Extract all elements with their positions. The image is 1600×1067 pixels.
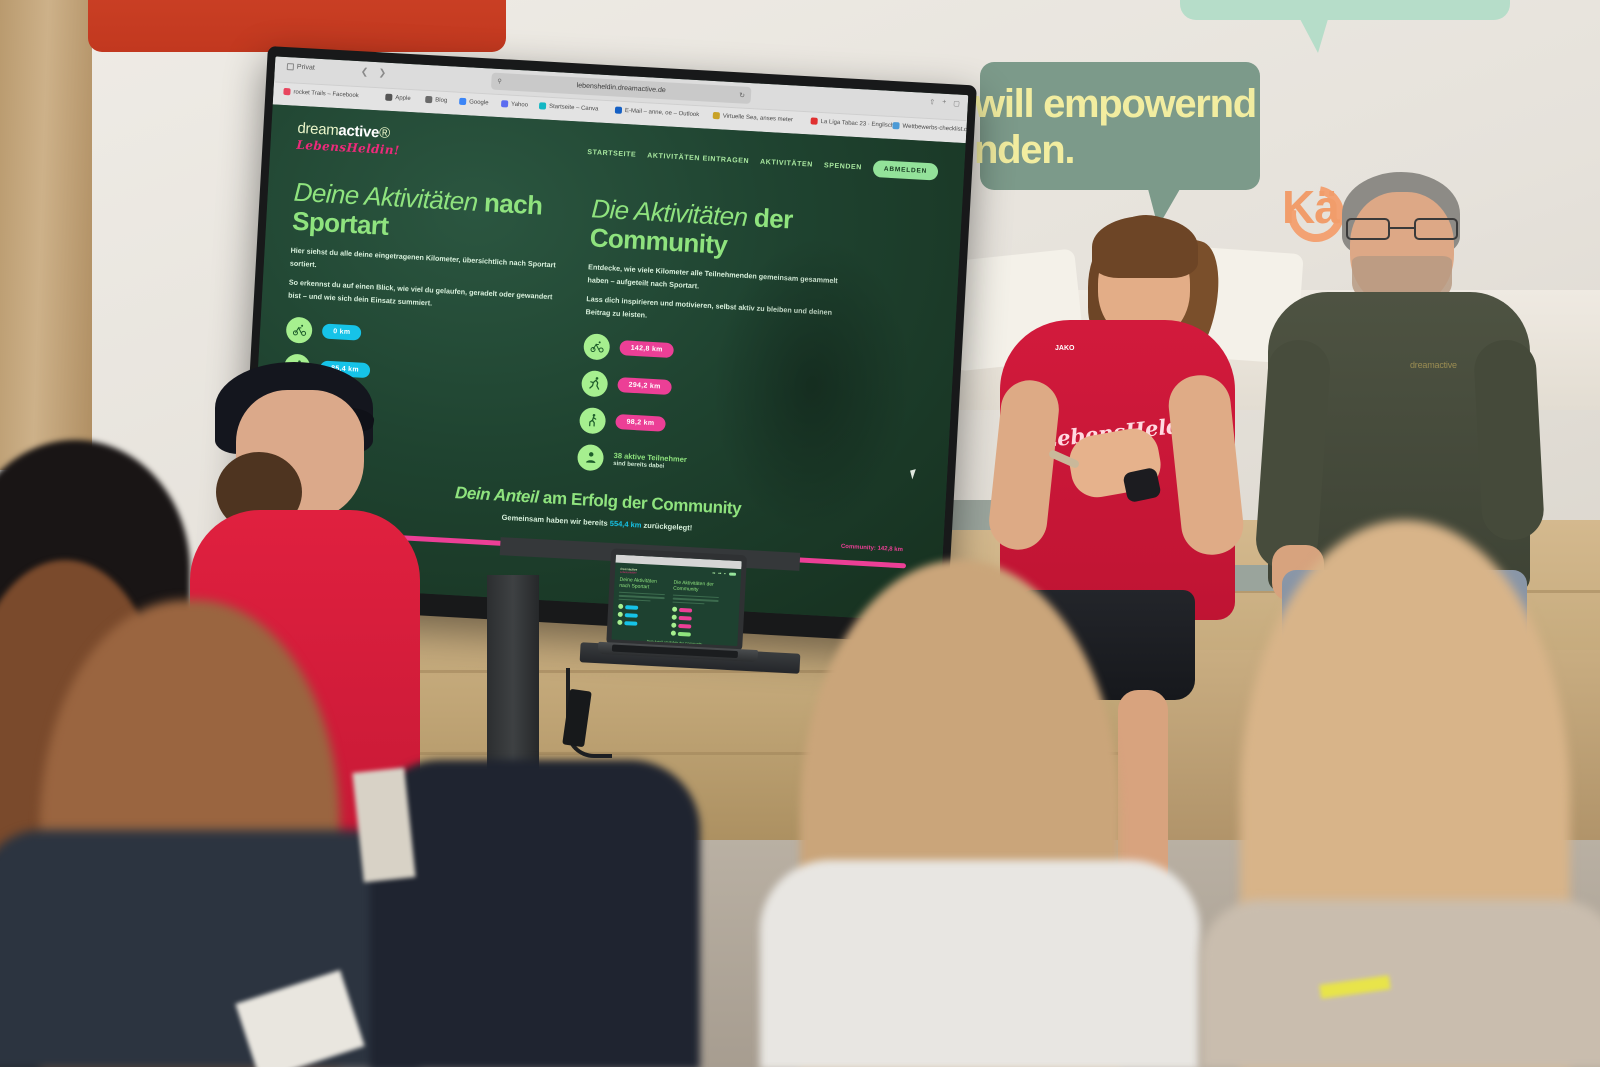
audience-body [370,760,700,1067]
nav-item-spenden[interactable]: SPENDEN [824,162,862,171]
bookmark-item[interactable]: Google [469,99,489,106]
bookmark-favicon [501,100,508,107]
wall-speech-bubble: will empowernd nden. [980,62,1260,190]
tabs-icon[interactable]: ▢ [953,99,960,107]
shirt-brand-dreamactive: dreamactive [1410,360,1457,370]
back-button[interactable]: ❮ [360,66,368,77]
bookmark-item[interactable]: Apple [395,95,411,102]
wall-bubble-line1: will empowernd [974,82,1256,127]
laptop-right-title: Die Aktivitäten der Community [673,581,720,595]
progress-label-community: Community: 142,8 km [841,543,903,552]
plus-icon[interactable]: + [942,99,947,107]
red-banner-koerber-start-hub: einsam Gutes gründen. örber Start-Hub. [88,0,506,52]
nav-item-aktivitaeten[interactable]: AKTIVITÄTEN [760,159,813,169]
sport-row-bicycle: 0 km [286,316,555,357]
private-label: Privat [297,64,315,72]
wall-logo-text: Kä [1282,180,1339,234]
glasses-icon [1346,218,1458,240]
bookmark-favicon [615,106,622,113]
bookmark-favicon [810,117,817,124]
share-icon[interactable]: ⇧ [929,98,935,106]
bicycle-icon [583,333,610,360]
left-column-title: Deine Aktivitäten nach Sportart [291,178,562,250]
main-navigation: STARTSEITE AKTIVITÄTEN EINTRAGEN AKTIVIT… [587,144,939,181]
bookmark-item[interactable]: rocket Trails – Facebook [293,89,359,99]
search-icon: ⚲ [497,78,502,85]
forward-button[interactable]: ❯ [378,67,386,78]
community-distance-bicycle: 142,8 km [619,340,674,358]
left-paragraph-2: So erkennst du auf einen Blick, wie viel… [288,277,557,317]
community-distance-walking: 98,2 km [615,414,666,432]
bookmark-item[interactable]: Wettbewerbs-checklist.de [902,123,968,133]
bookmark-favicon [459,98,466,105]
community-distance-running: 294,2 km [617,377,672,395]
screen-shadow [704,230,920,541]
bookmark-favicon [713,112,720,119]
laptop-screen: dreamactiveLebensHeldin! ■■■■■■ Deine Ak… [611,555,741,646]
site-logo[interactable]: dreamactive® LebensHeldin! [296,120,401,158]
bookmark-favicon [385,94,392,101]
bookmark-item[interactable]: Virtuelle Sea, anses meter [723,113,793,123]
nav-item-aktivitaeten-eintragen[interactable]: AKTIVITÄTEN EINTRAGEN [647,152,749,165]
audience-body [760,860,1200,1067]
laptop-left-title: Deine Aktivitäten nach Sportart [619,578,666,592]
running-icon [581,370,608,397]
laptop: dreamactiveLebensHeldin! ■■■■■■ Deine Ak… [597,548,763,676]
bookmark-favicon [425,96,432,103]
url-text: lebensheldin.dreamactive.de [577,82,666,94]
audience-body [1200,900,1600,1067]
reload-icon[interactable]: ↻ [739,91,745,99]
hair-top [1092,216,1198,278]
wall-speech-bubble-top [1180,0,1510,20]
right-arm [1473,339,1545,542]
own-distance-bicycle: 0 km [322,324,362,341]
bookmark-favicon [539,102,546,109]
laptop-nav: ■■■■■■ [712,572,736,576]
bookmark-item[interactable]: Blog [435,97,447,104]
wall-bubble-line2: nden. [974,128,1074,173]
nav-item-startseite[interactable]: STARTSEITE [587,149,636,159]
tab-overview-icon [287,63,294,70]
laptop-lid: dreamactiveLebensHeldin! ■■■■■■ Deine Ak… [606,548,747,651]
bookmark-item[interactable]: Yahoo [511,101,528,108]
bicycle-icon [286,316,313,343]
bookmark-item[interactable]: Startseite – Canva [549,103,599,112]
bookmark-item[interactable]: E-Mail – anne, oe – Outlook [625,108,700,118]
bookmark-favicon [283,88,290,95]
bookmark-favicon [892,122,899,129]
bookmark-item[interactable]: La Liga Tabac 23 · Englisch [820,118,894,128]
logout-button[interactable]: ABMELDEN [872,160,938,181]
user-icon [577,444,604,471]
private-mode-indicator: Privat [287,63,315,72]
photo-scene: einsam Gutes gründen. örber Start-Hub. w… [0,0,1600,1067]
wood-column [0,0,92,470]
jako-brand-label: JAKO [1055,345,1074,352]
walking-icon [579,407,606,434]
